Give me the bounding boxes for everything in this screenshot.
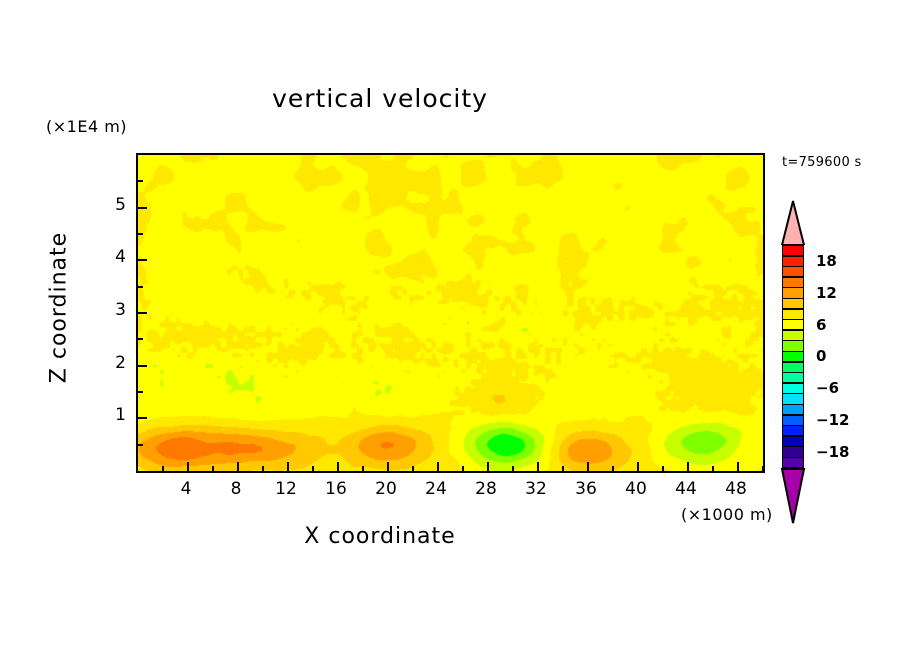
- colorbar-band: [782, 393, 804, 404]
- colorbar-tick-label: −6: [816, 379, 839, 397]
- colorbar-band: [782, 404, 804, 415]
- colorbar-over-arrow: [776, 200, 810, 245]
- colorbar-band: [782, 330, 804, 341]
- x-tick-label: 36: [566, 479, 606, 499]
- x-tick-minor: [362, 466, 364, 471]
- x-tick-label: 48: [716, 479, 756, 499]
- x-tick: [187, 462, 189, 471]
- colorbar-tick-label: −12: [816, 411, 849, 429]
- colorbar-band: [782, 436, 804, 447]
- y-axis-label: Z coordinate: [47, 193, 72, 423]
- colorbar-band: [782, 415, 804, 426]
- colorbar-band: [782, 266, 804, 277]
- x-tick-label: 8: [216, 479, 256, 499]
- contour-field-canvas: [138, 155, 763, 471]
- colorbar-band: [782, 340, 804, 351]
- colorbar-tick-label: 6: [816, 316, 826, 334]
- x-tick: [287, 462, 289, 471]
- y-tick-minor: [138, 391, 143, 393]
- colorbar-band: [782, 457, 804, 468]
- y-tick: [138, 312, 147, 314]
- x-tick-minor: [562, 466, 564, 471]
- x-tick-minor: [412, 466, 414, 471]
- y-tick-minor: [138, 444, 143, 446]
- colorbar-band: [782, 425, 804, 436]
- x-tick: [637, 462, 639, 471]
- x-tick-minor: [512, 466, 514, 471]
- x-tick: [487, 462, 489, 471]
- y-tick: [138, 207, 147, 209]
- x-tick-label: 24: [416, 479, 456, 499]
- x-tick-label: 32: [516, 479, 556, 499]
- x-tick-label: 4: [166, 479, 206, 499]
- x-axis-unit-label: (×1000 m): [681, 505, 773, 524]
- y-tick-label: 2: [96, 353, 126, 373]
- timestamp-annotation: t=759600 s: [782, 155, 862, 170]
- x-tick-minor: [762, 466, 764, 471]
- y-tick-minor: [138, 286, 143, 288]
- x-tick-minor: [312, 466, 314, 471]
- x-tick: [237, 462, 239, 471]
- colorbar-band: [782, 362, 804, 373]
- x-tick: [387, 462, 389, 471]
- colorbar-tick-label: −18: [816, 443, 849, 461]
- x-tick: [537, 462, 539, 471]
- x-axis-label: X coordinate: [0, 524, 760, 549]
- y-tick-label: 4: [96, 247, 126, 267]
- x-tick-minor: [462, 466, 464, 471]
- x-tick-minor: [212, 466, 214, 471]
- y-tick-label: 1: [96, 405, 126, 425]
- x-tick-label: 28: [466, 479, 506, 499]
- colorbar-band: [782, 319, 804, 330]
- x-tick-minor: [162, 466, 164, 471]
- x-tick-label: 20: [366, 479, 406, 499]
- colorbar-band: [782, 287, 804, 298]
- x-tick: [337, 462, 339, 471]
- y-tick-minor: [138, 338, 143, 340]
- colorbar-band: [782, 446, 804, 457]
- y-tick-label: 5: [96, 195, 126, 215]
- colorbar-band: [782, 298, 804, 309]
- x-tick: [687, 462, 689, 471]
- y-tick-label: 3: [96, 300, 126, 320]
- colorbar-band: [782, 256, 804, 267]
- x-tick-minor: [712, 466, 714, 471]
- colorbar-tick-label: 0: [816, 347, 826, 365]
- colorbar-band: [782, 245, 804, 256]
- y-tick: [138, 417, 147, 419]
- y-tick: [138, 365, 147, 367]
- x-tick-minor: [612, 466, 614, 471]
- x-tick-minor: [662, 466, 664, 471]
- colorbar-tick-label: 12: [816, 284, 837, 302]
- colorbar-band: [782, 372, 804, 383]
- z-axis-unit-label: (×1E4 m): [46, 117, 127, 136]
- y-tick-minor: [138, 233, 143, 235]
- x-tick-label: 12: [266, 479, 306, 499]
- x-tick: [437, 462, 439, 471]
- x-tick: [587, 462, 589, 471]
- y-tick-minor: [138, 180, 143, 182]
- plot-area: [136, 153, 765, 473]
- colorbar-band: [782, 383, 804, 394]
- y-tick: [138, 259, 147, 261]
- colorbar-band: [782, 277, 804, 288]
- colorbar: 181260−6−12−18: [776, 200, 810, 522]
- x-tick-label: 16: [316, 479, 356, 499]
- colorbar-tick-label: 18: [816, 252, 837, 270]
- colorbar-under-arrow: [776, 468, 810, 524]
- x-tick-label: 40: [616, 479, 656, 499]
- colorbar-band: [782, 351, 804, 362]
- x-tick: [737, 462, 739, 471]
- x-tick-minor: [262, 466, 264, 471]
- x-tick-label: 44: [666, 479, 706, 499]
- colorbar-band: [782, 309, 804, 320]
- page-title: vertical velocity: [0, 84, 760, 113]
